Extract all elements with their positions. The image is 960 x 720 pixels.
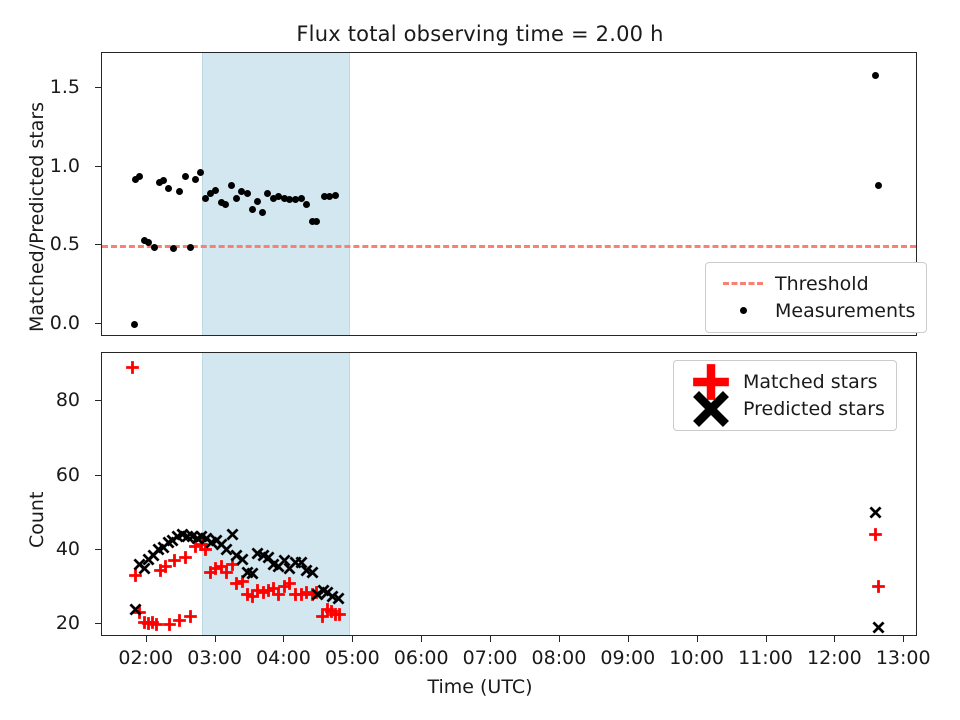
x-axis-tick-mark xyxy=(903,636,904,642)
legend-item-measurements[interactable]: Measurements xyxy=(717,297,915,324)
data-point xyxy=(160,177,167,184)
legend-bottom[interactable]: Matched stars Predicted stars xyxy=(673,360,897,431)
x-axis-tick-mark xyxy=(283,636,284,642)
x-axis-tick-label: 11:00 xyxy=(738,647,793,669)
dot-marker-icon xyxy=(717,307,769,314)
cross-marker-icon xyxy=(685,383,737,435)
x-axis-tick-label: 12:00 xyxy=(807,647,862,669)
x-axis-tick-label: 05:00 xyxy=(325,647,380,669)
data-point xyxy=(259,209,266,216)
y-axis-label-top: Matched/Predicted stars xyxy=(26,102,48,332)
data-point xyxy=(298,195,305,202)
data-point xyxy=(875,182,882,189)
data-point xyxy=(165,185,172,192)
x-axis-tick-label: 07:00 xyxy=(463,647,518,669)
x-axis-tick-label: 04:00 xyxy=(256,647,311,669)
x-axis-tick-label: 13:00 xyxy=(876,647,931,669)
data-point xyxy=(872,72,879,79)
x-axis-tick-mark xyxy=(559,636,560,642)
legend-label-matched-stars: Matched stars xyxy=(737,371,877,393)
data-point xyxy=(136,173,143,180)
data-point xyxy=(151,244,158,251)
y-axis-tick-label: 0.0 xyxy=(0,323,88,345)
x-axis-tick-mark xyxy=(628,636,629,642)
x-axis-tick-label: 09:00 xyxy=(600,647,655,669)
data-point xyxy=(183,609,198,624)
data-point xyxy=(187,244,194,251)
data-point xyxy=(332,192,339,199)
legend-item-threshold[interactable]: Threshold xyxy=(717,270,915,297)
data-point xyxy=(128,602,143,617)
data-point xyxy=(332,607,347,622)
legend-top[interactable]: Threshold Measurements xyxy=(705,262,927,333)
data-point xyxy=(192,176,199,183)
data-point xyxy=(871,579,886,594)
data-point xyxy=(249,206,256,213)
data-point xyxy=(228,182,235,189)
x-axis-tick-mark xyxy=(146,636,147,642)
x-axis-tick-mark xyxy=(352,636,353,642)
figure: Flux total observing time = 2.00 h Match… xyxy=(0,0,960,720)
data-point xyxy=(176,188,183,195)
legend-label-threshold: Threshold xyxy=(769,273,869,295)
data-point xyxy=(170,245,177,252)
data-point xyxy=(305,565,320,580)
data-point xyxy=(331,591,346,606)
x-axis-tick-label: 03:00 xyxy=(187,647,242,669)
x-axis-label: Time (UTC) xyxy=(0,676,960,698)
legend-label-predicted-stars: Predicted stars xyxy=(737,398,885,420)
x-axis-tick-label: 06:00 xyxy=(394,647,449,669)
legend-label-measurements: Measurements xyxy=(769,300,915,322)
x-axis-tick-label: 02:00 xyxy=(118,647,173,669)
x-axis-tick-mark xyxy=(490,636,491,642)
data-point xyxy=(212,187,219,194)
data-point xyxy=(254,198,261,205)
x-axis-tick-mark xyxy=(421,636,422,642)
data-point xyxy=(313,218,320,225)
threshold-line xyxy=(102,245,916,248)
x-axis-tick-mark xyxy=(697,636,698,642)
data-point xyxy=(225,527,240,542)
x-axis-tick-mark xyxy=(766,636,767,642)
x-axis-tick-label: 10:00 xyxy=(669,647,724,669)
data-point xyxy=(245,566,260,581)
data-point xyxy=(244,190,251,197)
data-point xyxy=(303,201,310,208)
legend-item-predicted-stars[interactable]: Predicted stars xyxy=(685,395,885,422)
data-point xyxy=(868,527,883,542)
y-axis-tick-label: 60 xyxy=(0,475,88,497)
y-axis-tick-label: 40 xyxy=(0,549,88,571)
data-point xyxy=(871,620,886,635)
data-point xyxy=(182,173,189,180)
y-axis-tick-label: 20 xyxy=(0,623,88,645)
x-axis-tick-label: 08:00 xyxy=(532,647,587,669)
data-point xyxy=(868,505,883,520)
y-axis-tick-label: 1.0 xyxy=(0,166,88,188)
y-axis-tick-label: 0.5 xyxy=(0,244,88,266)
x-axis-tick-mark xyxy=(834,636,835,642)
data-point xyxy=(125,360,140,375)
x-axis-tick-mark xyxy=(215,636,216,642)
y-axis-tick-label: 80 xyxy=(0,400,88,422)
figure-title: Flux total observing time = 2.00 h xyxy=(0,22,960,46)
data-point xyxy=(131,321,138,328)
y-axis-tick-label: 1.5 xyxy=(0,87,88,109)
dashed-line-icon xyxy=(717,282,769,285)
